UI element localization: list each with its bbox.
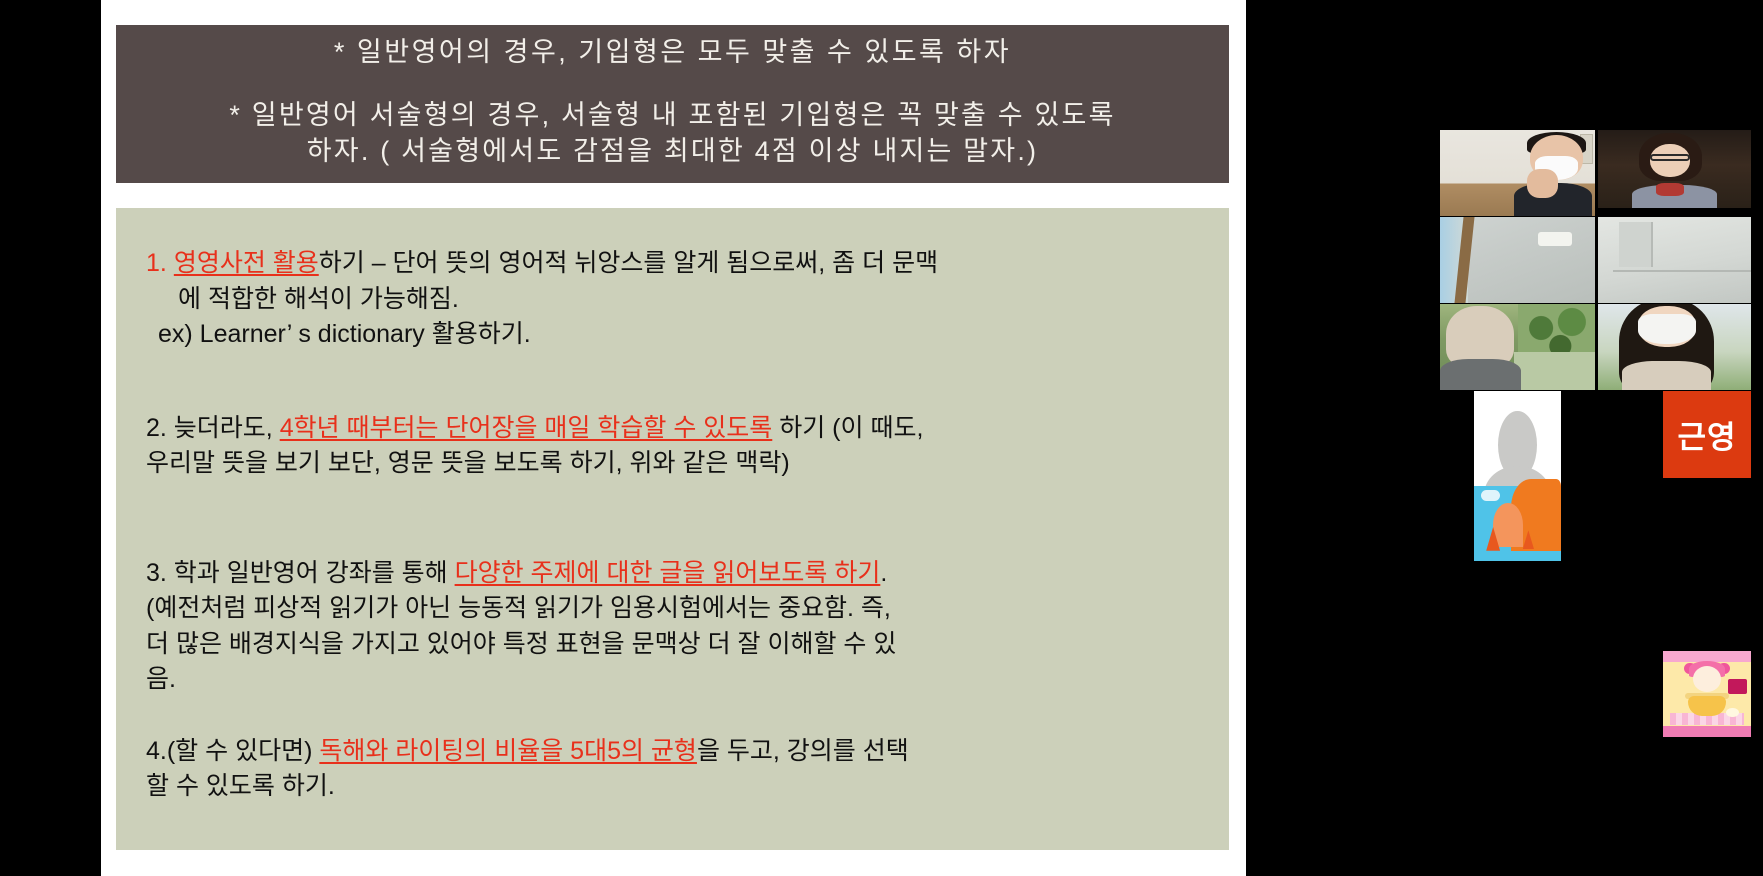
slide-header-box: * 일반영어의 경우, 기입형은 모두 맞출 수 있도록 하자 * 일반영어 서… xyxy=(116,25,1229,183)
participant-6-video-frame xyxy=(1598,304,1751,390)
ground-shape xyxy=(1514,352,1595,390)
slide-item-3-line-3: 더 많은 배경지식을 가지고 있어야 특정 표현을 문맥상 더 잘 이해할 수 … xyxy=(146,627,1201,663)
participant-5-video-frame xyxy=(1440,304,1595,390)
item-3-rest: . xyxy=(880,559,887,587)
item-1-highlight: 영영사전 활용 xyxy=(174,249,319,277)
slide-item-2-line-2: 우리말 뜻을 보기 보단, 영문 뜻을 보도록 하기, 위와 같은 맥락) xyxy=(146,446,1201,482)
slide-item-1-line-2: 에 적합한 해석이 가능해짐. xyxy=(146,282,1201,318)
participant-3-video-frame xyxy=(1440,217,1595,303)
participant-name-label: 근영 xyxy=(1677,412,1736,457)
spacer-3 xyxy=(146,698,1201,734)
slide-item-3-line-1: 3. 학과 일반영어 강좌를 통해 다양한 주제에 대한 글을 읽어보도록 하기… xyxy=(146,556,1201,592)
participant-1-video-frame xyxy=(1440,130,1595,216)
shared-slide: * 일반영어의 경우, 기입형은 모두 맞출 수 있도록 하자 * 일반영어 서… xyxy=(101,0,1246,876)
item-2-number: 2. 늦더라도, xyxy=(146,414,280,442)
video-tile-participant-2[interactable] xyxy=(1598,130,1751,208)
thumbnail-bottom-banner xyxy=(1663,726,1751,737)
spacer-1 xyxy=(146,353,1201,411)
item-4-number: 4.(할 수 있다면) xyxy=(146,737,319,765)
slide-content-box: 1. 영영사전 활용하기 – 단어 뜻의 영어적 뉘앙스를 알게 됨으로써, 좀… xyxy=(116,208,1229,850)
game-thumbnail-image xyxy=(1663,651,1751,737)
slide-item-3-line-4: 음. xyxy=(146,662,1201,698)
spacer-2 xyxy=(146,482,1201,540)
participant-2-video-frame xyxy=(1598,130,1751,208)
item-1-rest: 하기 – 단어 뜻의 영어적 뉘앙스를 알게 됨으로써, 좀 더 문맥 xyxy=(319,249,938,277)
video-tile-avatar-placeholder[interactable] xyxy=(1474,391,1561,561)
video-tile-participant-5[interactable] xyxy=(1440,304,1595,390)
item-3-number: 3. 학과 일반영어 강좌를 통해 xyxy=(146,559,455,587)
video-tile-participant-1[interactable] xyxy=(1440,130,1595,216)
cloud-shape xyxy=(1481,490,1500,502)
egg-shape xyxy=(1726,708,1738,717)
item-3-highlight: 다양한 주제에 대한 글을 읽어보도록 하기 xyxy=(455,559,881,587)
video-tile-participant-3[interactable] xyxy=(1440,217,1595,303)
torso-shape xyxy=(1622,361,1711,390)
slide-item-2-line-1: 2. 늦더라도, 4학년 때부터는 단어장을 매일 학습할 수 있도록 하기 (… xyxy=(146,411,1201,447)
video-tile-participant-6[interactable] xyxy=(1598,304,1751,390)
face-mask-shape xyxy=(1638,314,1696,343)
spacer-2b xyxy=(146,540,1201,556)
torso-shape xyxy=(1440,359,1521,390)
eyeglasses-icon xyxy=(1650,154,1690,161)
item-4-rest: 을 두고, 강의를 선택 xyxy=(697,737,909,765)
scarf-shape xyxy=(1656,183,1684,195)
participant-video-rail: 근영 xyxy=(1246,0,1763,876)
slide-item-3-line-2: (예전처럼 피상적 읽기가 아닌 능동적 읽기가 임용시험에서는 중요함. 즉, xyxy=(146,591,1201,627)
slide-header-line-2: * 일반영어 서술형의 경우, 서술형 내 포함된 기입형은 꼭 맞출 수 있도… xyxy=(229,97,1115,133)
screen-root: * 일반영어의 경우, 기입형은 모두 맞출 수 있도록 하자 * 일반영어 서… xyxy=(0,0,1763,876)
video-tile-name-badge[interactable]: 근영 xyxy=(1663,391,1751,478)
item-2-rest: 하기 (이 때도, xyxy=(772,414,923,442)
avatar-image xyxy=(1474,391,1561,561)
thumbnail-badge xyxy=(1728,679,1747,694)
ceiling-seam-line xyxy=(1613,270,1751,272)
slide-item-4-line-1: 4.(할 수 있다면) 독해와 라이팅의 비율을 5대5의 균형을 두고, 강의… xyxy=(146,734,1201,770)
participant-4-video-frame xyxy=(1598,217,1751,303)
wall-panel-shape xyxy=(1619,222,1653,267)
item-1-number: 1. xyxy=(146,249,167,277)
slide-header-line-1: * 일반영어의 경우, 기입형은 모두 맞출 수 있도록 하자 xyxy=(334,34,1011,70)
video-tile-game-thumbnail[interactable] xyxy=(1663,651,1751,737)
item-4-highlight: 독해와 라이팅의 비율을 5대5의 균형 xyxy=(319,737,697,765)
video-tile-participant-4[interactable] xyxy=(1598,217,1751,303)
slide-canvas: * 일반영어의 경우, 기입형은 모두 맞출 수 있도록 하자 * 일반영어 서… xyxy=(101,0,1246,876)
slide-item-4-line-2: 할 수 있도록 하기. xyxy=(146,769,1201,805)
arch-rock-shape xyxy=(1493,503,1523,547)
ceiling-light-shape xyxy=(1538,232,1572,246)
slide-item-1-example: ex) Learner’ s dictionary 활용하기. xyxy=(146,317,1201,353)
slide-header-line-3: 하자. ( 서술형에서도 감점을 최대한 4점 이상 내지는 말자.) xyxy=(307,133,1039,169)
item-2-highlight: 4학년 때부터는 단어장을 매일 학습할 수 있도록 xyxy=(280,414,773,442)
slide-item-1-line-1: 1. 영영사전 활용하기 – 단어 뜻의 영어적 뉘앙스를 알게 됨으로써, 좀… xyxy=(146,246,1201,282)
hand-shape xyxy=(1527,169,1558,198)
